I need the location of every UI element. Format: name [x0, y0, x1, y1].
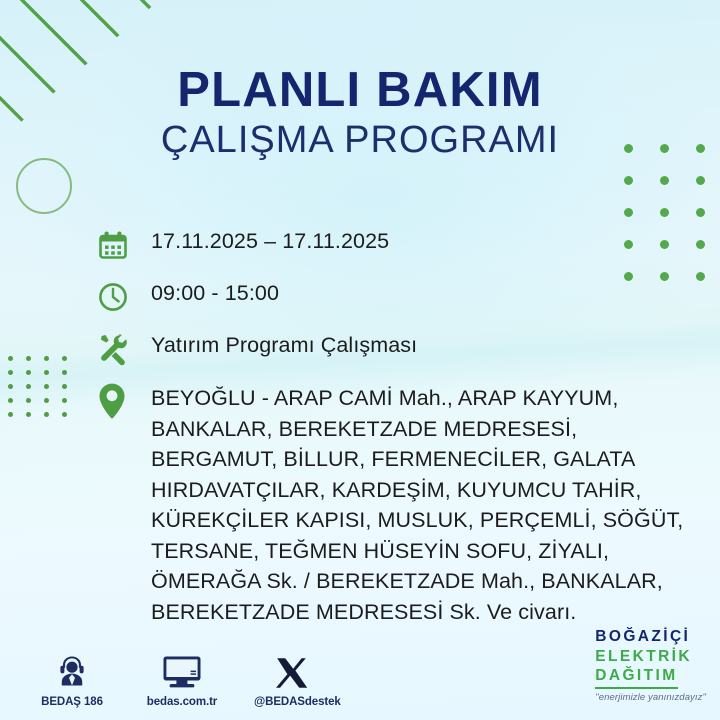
- dot: [62, 384, 67, 389]
- footer-label-call-center: BEDAŞ 186: [34, 696, 110, 708]
- info-row-date: 17.11.2025 – 17.11.2025: [97, 228, 707, 262]
- brand-logo: BOĞAZİÇİ ELEKTRİK DAĞITIM "enerjimizle y…: [595, 629, 706, 702]
- dot: [62, 356, 67, 361]
- dot: [8, 356, 13, 361]
- info-list: 17.11.2025 – 17.11.2025 09:00 - 15:00: [97, 228, 707, 641]
- dot: [696, 208, 705, 217]
- footer-contact-bar: BEDAŞ 186 bedas.com.tr: [34, 650, 330, 708]
- dot: [44, 398, 49, 403]
- location-value: BEYOĞLU - ARAP CAMİ Mah., ARAP KAYYUM, B…: [135, 382, 707, 627]
- info-row-time: 09:00 - 15:00: [97, 280, 707, 314]
- dot: [660, 208, 669, 217]
- info-row-location: BEYOĞLU - ARAP CAMİ Mah., ARAP KAYYUM, B…: [97, 382, 707, 627]
- dot: [44, 356, 49, 361]
- dot: [26, 370, 31, 375]
- dot: [44, 370, 49, 375]
- calendar-icon: [97, 228, 135, 262]
- dot: [8, 384, 13, 389]
- dot: [660, 176, 669, 185]
- dot: [62, 370, 67, 375]
- time-range-value: 09:00 - 15:00: [135, 280, 279, 308]
- tools-icon: [97, 332, 135, 366]
- dot: [8, 370, 13, 375]
- brand-line-2: ELEKTRİK: [595, 649, 706, 665]
- footer-item-social[interactable]: @BEDASdestek: [254, 650, 330, 708]
- planned-maintenance-poster: PLANLI BAKIM ÇALIŞMA PROGRAMI: [0, 0, 720, 720]
- title-main: PLANLI BAKIM: [0, 66, 720, 116]
- dot: [44, 412, 49, 417]
- date-range-value: 17.11.2025 – 17.11.2025: [135, 228, 389, 256]
- map-pin-icon: [97, 382, 135, 418]
- dot: [62, 398, 67, 403]
- dot: [8, 412, 13, 417]
- dot: [26, 412, 31, 417]
- dot: [696, 176, 705, 185]
- work-type-value: Yatırım Programı Çalışması: [135, 332, 417, 360]
- footer-item-website[interactable]: bedas.com.tr: [144, 650, 220, 708]
- info-row-work-type: Yatırım Programı Çalışması: [97, 332, 707, 366]
- dot: [624, 176, 633, 185]
- dot: [62, 412, 67, 417]
- brand-tagline: "enerjimizle yanınızdayız": [595, 693, 706, 703]
- dot: [624, 208, 633, 217]
- footer-label-social: @BEDASdestek: [254, 696, 330, 708]
- clock-icon: [97, 280, 135, 314]
- x-twitter-icon: [254, 650, 330, 690]
- dot: [26, 356, 31, 361]
- dot: [26, 398, 31, 403]
- dot: [26, 384, 31, 389]
- dot-grid-decoration-left: [8, 356, 80, 426]
- brand-line-3: DAĞITIM: [595, 668, 677, 689]
- title-subtitle: ÇALIŞMA PROGRAMI: [0, 121, 720, 161]
- dot: [44, 384, 49, 389]
- circle-outline-decoration: [16, 158, 72, 214]
- page-title: PLANLI BAKIM ÇALIŞMA PROGRAMI: [0, 66, 720, 161]
- brand-line-1: BOĞAZİÇİ: [595, 629, 706, 645]
- monitor-icon: [144, 650, 220, 690]
- dot: [8, 398, 13, 403]
- footer-item-call-center[interactable]: BEDAŞ 186: [34, 650, 110, 708]
- footer-label-website: bedas.com.tr: [144, 696, 220, 708]
- headset-operator-icon: [34, 650, 110, 690]
